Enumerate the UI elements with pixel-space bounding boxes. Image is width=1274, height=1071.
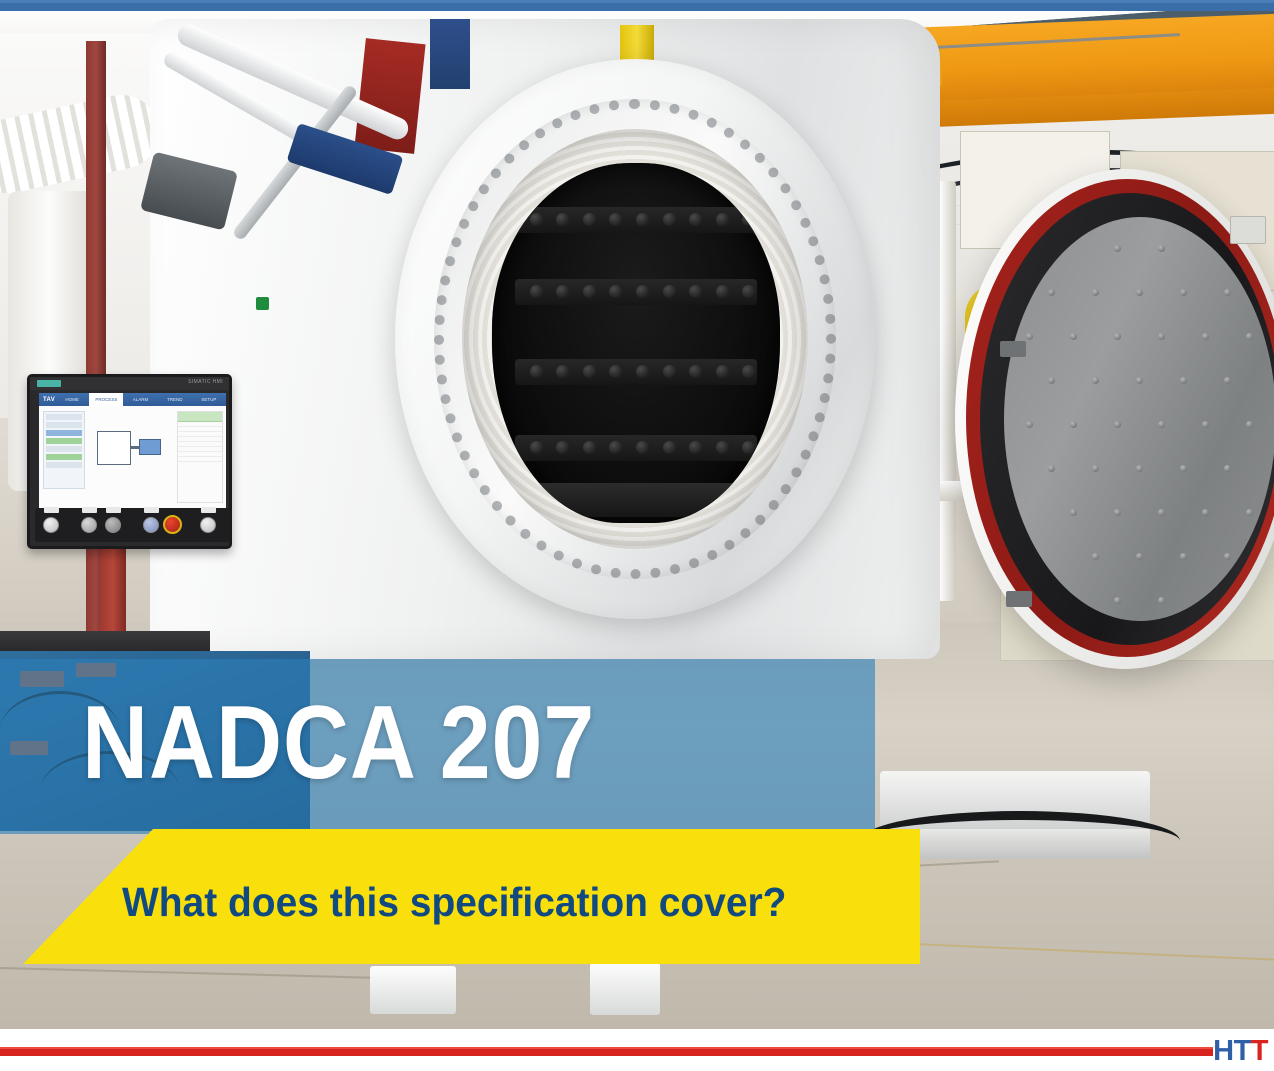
logo-letter-t1: T <box>1234 1035 1251 1067</box>
hmi-selector-knob[interactable] <box>200 517 216 533</box>
heating-element-node <box>742 213 755 226</box>
door-rivet <box>1048 289 1055 296</box>
heating-element-node <box>636 285 649 298</box>
door-graphite-insulation <box>1004 217 1274 621</box>
blue-column <box>430 19 470 89</box>
page-title: NADCA 207 <box>82 691 595 795</box>
hmi-parameter-row <box>46 422 82 428</box>
door-rivet <box>1114 245 1121 252</box>
emergency-stop-button[interactable] <box>163 515 182 534</box>
heating-element-node <box>716 213 729 226</box>
door-rivet <box>1136 289 1143 296</box>
top-brand-bar <box>0 0 1274 11</box>
hmi-parameter-list <box>43 411 85 489</box>
hmi-process-diagram <box>91 423 175 475</box>
door-rivet <box>1202 421 1209 428</box>
hmi-parameter-row <box>46 438 82 444</box>
door-rivet <box>1048 377 1055 384</box>
door-rivet <box>1246 333 1253 340</box>
door-rivet <box>1224 465 1231 472</box>
door-junction-box <box>1230 216 1266 244</box>
door-rivet <box>1136 553 1143 560</box>
hmi-vendor-logo <box>37 380 61 387</box>
hmi-tab-process[interactable]: PROCESS <box>89 393 123 406</box>
footer-rule-highlight <box>0 1047 1213 1049</box>
heating-element-node <box>663 285 676 298</box>
door-rivet <box>1224 289 1231 296</box>
heating-element-node <box>609 441 622 454</box>
hmi-selector-knob[interactable] <box>81 517 97 533</box>
heating-element-node <box>742 441 755 454</box>
hmi-button-tag <box>106 507 121 513</box>
door-retaining-clip <box>1006 591 1032 607</box>
heating-element-node <box>716 441 729 454</box>
door-rivet <box>1070 421 1077 428</box>
heating-element-node <box>636 441 649 454</box>
heating-element-node <box>636 365 649 378</box>
heating-element-node <box>556 285 569 298</box>
hmi-parameter-row <box>46 430 82 436</box>
heating-element-node <box>742 365 755 378</box>
heating-element-node <box>689 285 702 298</box>
door-rivet <box>1070 509 1077 516</box>
door-rivet <box>1070 333 1077 340</box>
hmi-pump-symbol <box>139 439 161 455</box>
door-rivet <box>1092 377 1099 384</box>
door-rivet <box>1026 333 1033 340</box>
heating-element-node <box>689 441 702 454</box>
green-indicator <box>256 297 269 310</box>
heating-element-bar <box>515 207 757 233</box>
furnace-support-foot <box>590 963 660 1015</box>
door-rivet <box>1092 553 1099 560</box>
hmi-topbar: TAV HOME PROCESS ALARM TREND SETUP <box>39 393 226 406</box>
door-rivet <box>1224 377 1231 384</box>
door-rivet <box>1246 421 1253 428</box>
heating-element-node <box>663 365 676 378</box>
door-rivet <box>1136 465 1143 472</box>
heating-element-node <box>530 441 543 454</box>
furnace-photo: N A C E S <box>0 11 1274 1029</box>
furnace-support-foot <box>370 966 456 1014</box>
heating-element-node <box>530 285 543 298</box>
heating-element-node <box>556 365 569 378</box>
door-rivet <box>1026 421 1033 428</box>
hmi-vessel-symbol <box>97 431 131 465</box>
page-subtitle: What does this specification cover? <box>122 879 786 925</box>
hmi-button-tag <box>44 507 59 513</box>
heating-element-node <box>716 365 729 378</box>
heating-element-node <box>663 441 676 454</box>
door-rivet <box>1114 509 1121 516</box>
door-rivet <box>1158 421 1165 428</box>
door-retaining-clip <box>1000 341 1026 357</box>
door-rivet <box>1114 421 1121 428</box>
hmi-indicator-lamp[interactable] <box>143 517 159 533</box>
hmi-button-tag <box>82 507 97 513</box>
heating-element-node <box>742 285 755 298</box>
heating-element-bar <box>515 435 757 461</box>
hmi-parameter-row <box>46 414 82 420</box>
door-rivet <box>1114 597 1121 604</box>
hmi-bezel-top: SIMATIC HMI <box>30 377 229 390</box>
door-rivet <box>1180 465 1187 472</box>
slide-canvas: N A C E S <box>0 0 1274 1071</box>
heating-element-bar <box>515 359 757 385</box>
heating-element-node <box>530 213 543 226</box>
hmi-tab-trend[interactable]: TREND <box>158 397 192 402</box>
heating-element-node <box>556 441 569 454</box>
door-rivet <box>1092 289 1099 296</box>
hmi-brand-label: TAV <box>43 397 55 403</box>
footer-bar: HTT <box>0 1029 1274 1071</box>
heating-element-node <box>530 365 543 378</box>
hmi-button-tag <box>144 507 159 513</box>
hmi-selector-knob[interactable] <box>43 517 59 533</box>
door-rivet <box>1246 509 1253 516</box>
heating-element-node <box>556 213 569 226</box>
hmi-selector-knob[interactable] <box>105 517 121 533</box>
heating-element-node <box>689 213 702 226</box>
door-rivet <box>1180 553 1187 560</box>
door-rivet <box>1158 333 1165 340</box>
hmi-status-table <box>177 411 223 503</box>
door-rivet <box>1158 597 1165 604</box>
logo-letter-t2: T <box>1251 1035 1268 1067</box>
heating-element-node <box>689 365 702 378</box>
heating-element-node <box>609 285 622 298</box>
furnace-hearth <box>532 483 739 517</box>
heating-element-node <box>583 441 596 454</box>
door-rivet <box>1092 465 1099 472</box>
door-rivet <box>1202 333 1209 340</box>
logo-letter-h: H <box>1213 1035 1233 1067</box>
hmi-tab-alarm[interactable]: ALARM <box>123 397 157 402</box>
heating-element-node <box>583 285 596 298</box>
door-rivet <box>1158 245 1165 252</box>
top-bar-highlight <box>0 0 1274 3</box>
hmi-button-tag <box>201 507 216 513</box>
heating-element-node <box>716 285 729 298</box>
hmi-screen[interactable]: TAV HOME PROCESS ALARM TREND SETUP <box>39 393 226 511</box>
door-rivet <box>1136 377 1143 384</box>
hmi-parameter-row <box>46 454 82 460</box>
hmi-button-bar <box>35 508 230 542</box>
heating-element-bar <box>515 279 757 305</box>
hmi-parameter-row <box>46 462 82 468</box>
heating-element-node <box>609 213 622 226</box>
footer-red-rule <box>0 1047 1213 1056</box>
operator-control-panel[interactable]: SIMATIC HMI TAV HOME PROCESS ALARM TREND… <box>27 374 232 549</box>
heating-element-node <box>583 365 596 378</box>
door-rivet <box>1180 377 1187 384</box>
hmi-parameter-row <box>46 446 82 452</box>
hmi-status-row <box>178 457 222 462</box>
hmi-tab-home[interactable]: HOME <box>55 397 89 402</box>
htt-logo: HTT <box>1213 1037 1268 1066</box>
door-rivet <box>1180 289 1187 296</box>
door-rivet <box>1048 465 1055 472</box>
furnace-hot-zone <box>492 163 780 523</box>
heating-element-node <box>609 365 622 378</box>
heating-element-node <box>583 213 596 226</box>
heating-element-node <box>663 213 676 226</box>
heating-element-node <box>636 213 649 226</box>
door-rivet <box>1224 553 1231 560</box>
door-rivet <box>1158 509 1165 516</box>
hmi-tab-setup[interactable]: SETUP <box>192 397 226 402</box>
door-rivet <box>1202 509 1209 516</box>
carriage-base-plate <box>920 829 1150 859</box>
hmi-status-header <box>178 412 222 422</box>
hmi-model-label: SIMATIC HMI <box>188 379 223 385</box>
door-rivet <box>1114 333 1121 340</box>
